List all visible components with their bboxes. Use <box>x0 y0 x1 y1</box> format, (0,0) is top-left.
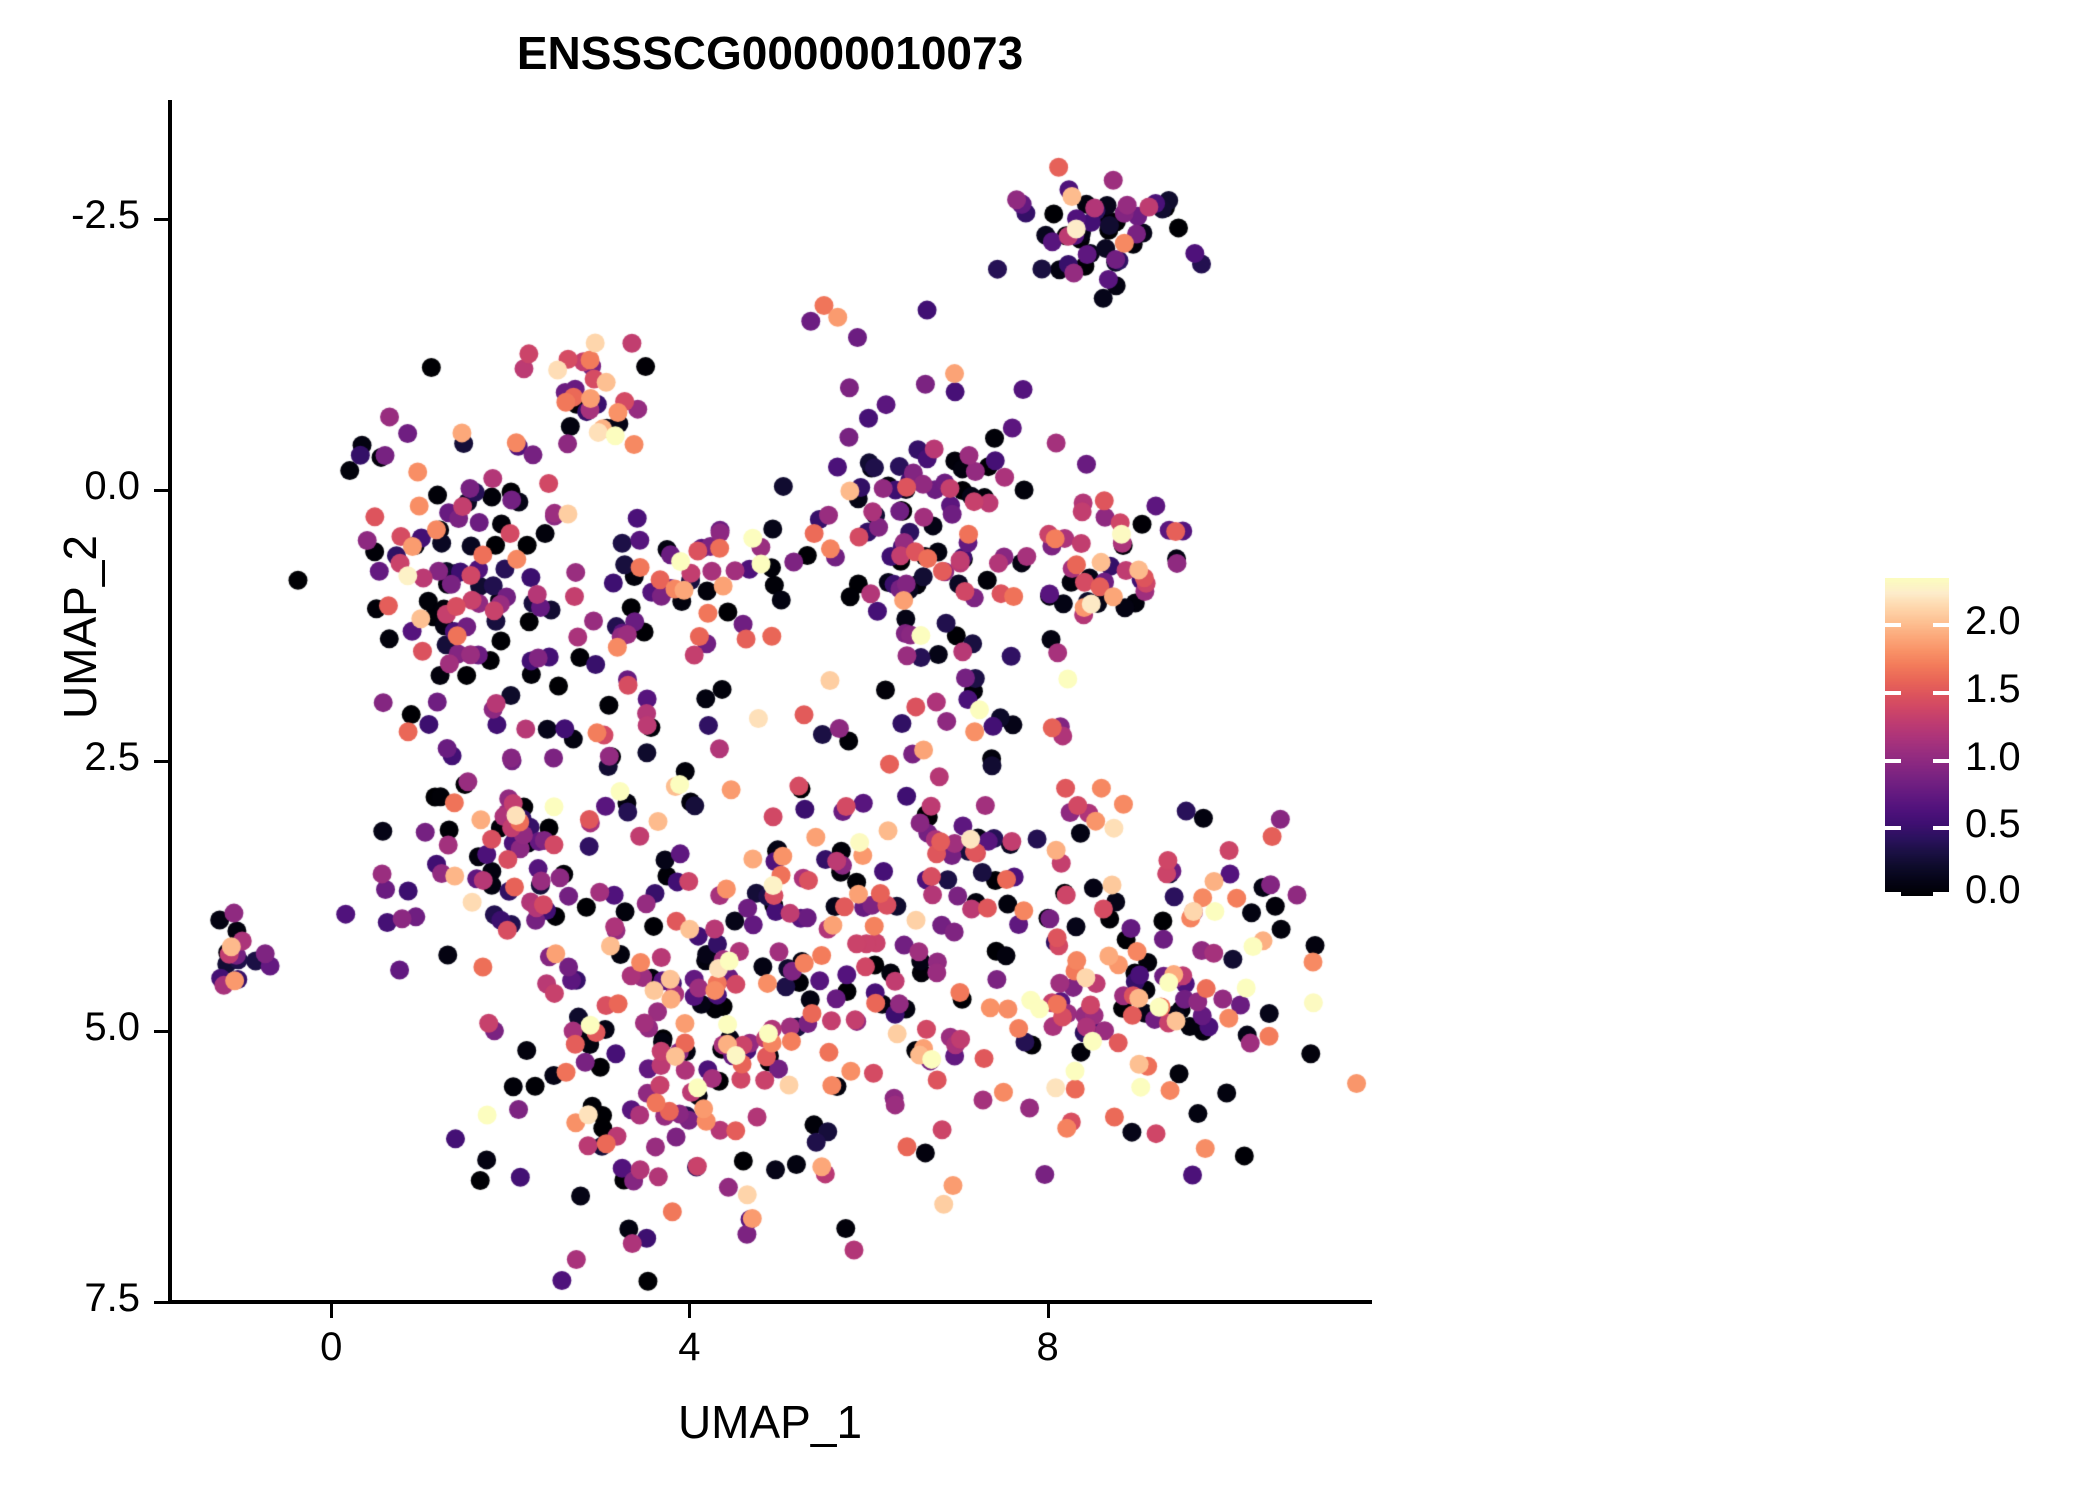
x-tick-mark <box>1047 1304 1050 1318</box>
y-tick-label: 5.0 <box>20 1005 140 1050</box>
colorbar-tick-mark <box>1933 892 1949 896</box>
umap-feature-plot: ENSSSCG00000010073 7.55.02.50.0-2.5 048 … <box>0 0 2100 1500</box>
y-axis-title: UMAP_2 <box>53 427 107 827</box>
y-tick-label: -2.5 <box>20 193 140 238</box>
y-tick-mark <box>154 218 168 221</box>
colorbar-tick-mark <box>1933 759 1949 763</box>
x-axis-title: UMAP_1 <box>170 1395 1370 1449</box>
colorbar-tick-mark <box>1885 826 1901 830</box>
y-tick-mark <box>154 1030 168 1033</box>
color-legend: 2.01.51.00.50.0 <box>1885 578 2085 898</box>
y-tick-mark <box>154 760 168 763</box>
colorbar-tick-mark <box>1933 826 1949 830</box>
colorbar-label: 2.0 <box>1965 599 2085 644</box>
colorbar-tick-mark <box>1933 623 1949 627</box>
y-axis-line <box>168 100 172 1304</box>
x-tick-label: 0 <box>271 1325 391 1370</box>
page-title: ENSSSCG00000010073 <box>0 26 1540 80</box>
colorbar-tick-mark <box>1885 892 1901 896</box>
y-tick-mark <box>154 1301 168 1304</box>
colorbar-label: 1.0 <box>1965 735 2085 780</box>
plot-panel <box>170 100 1370 1302</box>
x-tick-mark <box>330 1304 333 1318</box>
x-tick-label: 8 <box>988 1325 1108 1370</box>
colorbar-tick-mark <box>1885 759 1901 763</box>
colorbar-tick-mark <box>1885 623 1901 627</box>
y-tick-mark <box>154 489 168 492</box>
x-tick-label: 4 <box>629 1325 749 1370</box>
x-tick-mark <box>688 1304 691 1318</box>
colorbar-tick-mark <box>1885 691 1901 695</box>
colorbar-label: 0.0 <box>1965 868 2085 913</box>
colorbar-label: 0.5 <box>1965 802 2085 847</box>
scatter-points-layer <box>170 100 1370 1302</box>
x-axis-line <box>168 1300 1372 1304</box>
colorbar-tick-mark <box>1933 691 1949 695</box>
y-tick-label: 7.5 <box>20 1276 140 1321</box>
colorbar-label: 1.5 <box>1965 667 2085 712</box>
